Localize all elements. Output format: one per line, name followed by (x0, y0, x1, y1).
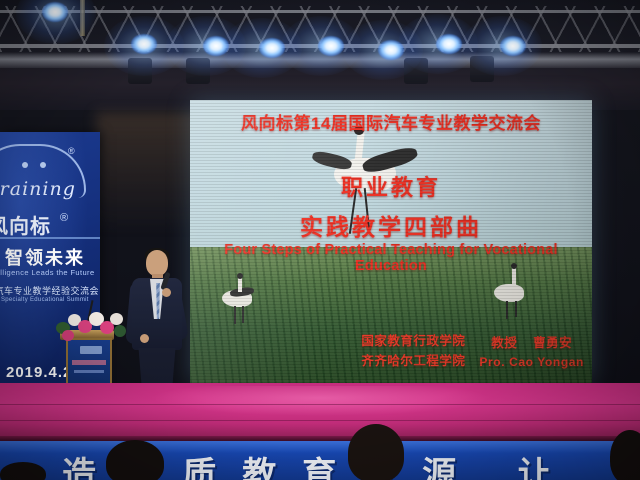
audience-head (348, 424, 404, 480)
stage-floor-highlight (150, 386, 490, 416)
slide-heading-line2: 实践教学四部曲 (190, 208, 592, 242)
bottom-banner: 造优质教育资源 让 (0, 441, 640, 480)
flower (62, 330, 74, 341)
spotlight (131, 34, 157, 54)
credits-name-cn: 曹勇安 (533, 336, 572, 350)
banner-slogan-en: and Intelligence Leads the Future (0, 268, 95, 277)
spotlight (42, 2, 68, 22)
credits-presenter-cn: 教授 曹勇安 (479, 334, 584, 353)
audience-shoulder (0, 462, 46, 480)
crane-illustration (218, 276, 264, 336)
flower-arrangement (52, 310, 128, 346)
credits-org-line2: 齐齐哈尔工程学院 (361, 352, 465, 371)
credits-title-cn: 教授 (491, 336, 517, 350)
slide-credits: 国家教育行政学院 齐齐哈尔工程学院 教授 曹勇安 Pro. Cao Yongan (361, 332, 584, 371)
slide-english-subtitle: Four Steps of Practical Teaching for Voc… (190, 242, 592, 274)
presenter-hand (162, 288, 171, 297)
slide-heading-line1: 职业教育 (190, 170, 592, 202)
credits-presenter: 教授 曹勇安 Pro. Cao Yongan (479, 334, 584, 371)
podium-badge (80, 346, 102, 354)
banner-slogan-cn: 动 智领未来 (0, 244, 85, 270)
logo-dot (40, 162, 46, 168)
audience-head (106, 440, 164, 480)
logo-dot (22, 162, 28, 168)
registered-mark: ® (68, 146, 75, 156)
flower (110, 313, 123, 325)
registered-mark: ® (60, 212, 68, 224)
spotlight (318, 36, 344, 56)
floor-seam (0, 420, 640, 421)
led-screen: 风向标第14届国际汽车专业教学交流会 职业教育 实践教学四部曲 Four Ste… (190, 100, 592, 383)
credits-name-en: Pro. Cao Yongan (479, 353, 584, 371)
crane-illustration (490, 266, 536, 328)
presenter-hand (140, 334, 149, 343)
audience-head (610, 430, 640, 480)
spotlight (436, 34, 462, 54)
bottom-banner-text: 造优质教育资源 让 (0, 447, 640, 480)
credits-organizations: 国家教育行政学院 齐齐哈尔工程学院 (361, 332, 465, 371)
banner-event-cn: 届国际汽车专业教学经验交流会 (0, 284, 99, 297)
photo-scene: 风向标第14届国际汽车专业教学交流会 职业教育 实践教学四部曲 Four Ste… (0, 0, 640, 480)
banner-brand-script: Training (0, 178, 76, 200)
banner-divider (0, 237, 100, 239)
banner-brand-cn: 风向标 (0, 210, 51, 239)
floor-seam (0, 404, 640, 405)
spotlight (500, 36, 526, 56)
slide-event-title: 风向标第14届国际汽车专业教学交流会 (190, 109, 592, 134)
credits-org-line1: 国家教育行政学院 (361, 332, 465, 351)
banner-event-en: Automobile Specialty Educational Summit (0, 297, 89, 303)
podium-text-line (72, 360, 106, 365)
podium-text-line (74, 370, 104, 373)
